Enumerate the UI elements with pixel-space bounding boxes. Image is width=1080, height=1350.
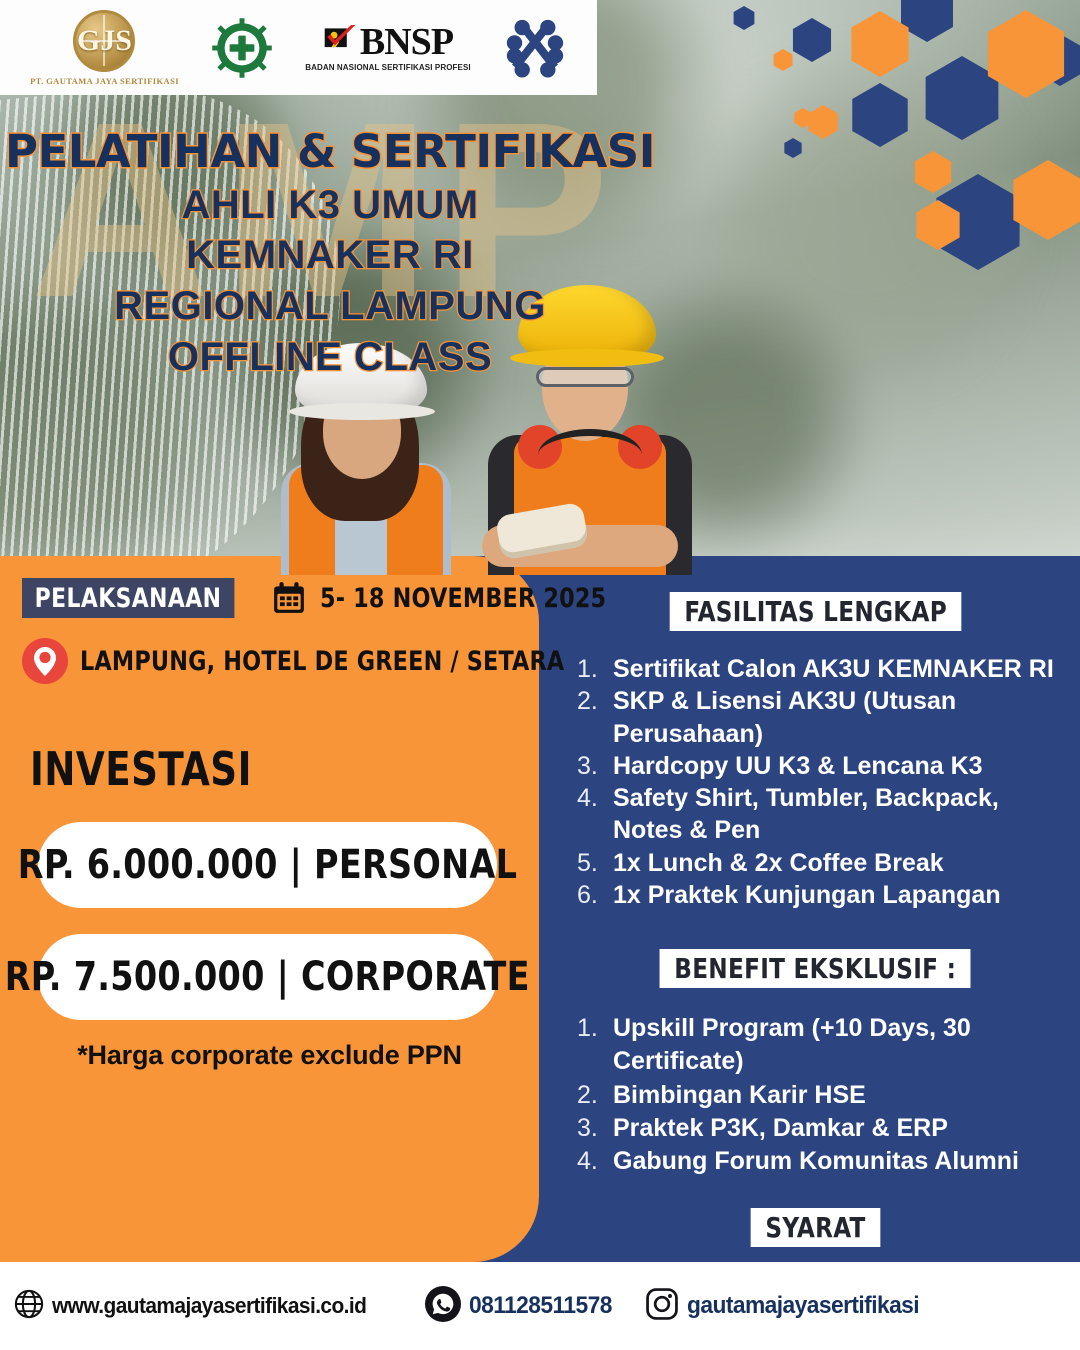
list-item-label: Upskill Program (+10 Days, 30 Certificat… [613,1012,1072,1079]
list-item-label: Praktek P3K, Damkar & ERP [613,1112,948,1145]
whatsapp-contact[interactable]: 081128511578 [425,1286,619,1327]
list-item: 5.1x Lunch & 2x Coffee Break [577,847,1072,879]
list-item: 6.1x Praktek Kunjungan Lapangan [577,879,1072,911]
pelaksanaan-badge: PELAKSANAAN [22,578,234,618]
gjs-monogram: GJS [76,13,132,69]
right-details-column: FASILITAS LENGKAP 1.Sertifikat Calon AK3… [545,556,1080,1262]
whatsapp-number: 081128511578 [469,1292,612,1320]
list-item-number: 1. [577,1012,607,1045]
syarat-heading: SYARAT [751,1208,881,1247]
bnsp-logo: BNSP BADAN NASIONAL SERTIFIKASI PROFESI [305,23,471,72]
list-item-label: 1x Praktek Kunjungan Lapangan [613,879,1001,911]
bnsp-mark-icon [323,25,357,59]
benefits-list: 1.Upskill Program (+10 Days, 30 Certific… [577,1012,1072,1178]
list-item: 4.Safety Shirt, Tumbler, Backpack, Notes… [577,782,1072,847]
whatsapp-icon [425,1286,461,1327]
list-item-number: 4. [577,1145,607,1178]
website-text: www.gautamajayasertifikasi.co.id [52,1293,366,1319]
benefit-heading: BENEFIT EKSKLUSIF : [660,949,971,988]
page-title: PELATIHAN & SERTIFIKASI [0,128,660,176]
list-item-number: 2. [577,1079,607,1112]
list-item: 3.Praktek P3K, Damkar & ERP [577,1112,1072,1145]
calendar-icon [272,581,306,615]
bnsp-logo-caption: BADAN NASIONAL SERTIFIKASI PROFESI [305,63,471,72]
price-personal-text: RP. 6.000.000 | PERSONAL [18,842,517,888]
network-logo [503,16,567,80]
hero-subtitle-line-1: AHLI K3 UMUM [0,184,660,227]
hexagon-pattern-decoration [730,0,1080,350]
list-item: 3.Hardcopy UU K3 & Lencana K3 [577,750,1072,782]
list-item: 2.SKP & Lisensi AK3U (Utusan Perusahaan) [577,685,1072,750]
list-item-number: 2. [577,685,607,717]
list-item-number: 6. [577,879,607,911]
instagram-handle: gautamajayasertifikasi [687,1292,919,1320]
globe-icon [14,1289,44,1324]
list-item: 1.Upskill Program (+10 Days, 30 Certific… [577,1012,1072,1079]
hero-section: AMP [0,0,1080,575]
list-item-number: 3. [577,750,607,782]
list-item-number: 5. [577,847,607,879]
website-contact[interactable]: www.gautamajayasertifikasi.co.id [14,1289,383,1324]
price-note: *Harga corporate exclude PPN [22,1040,517,1071]
instagram-icon [645,1287,679,1326]
map-pin-icon [22,638,68,684]
logo-bar: GJS PT. GAUTAMA JAYA SERTIFIKASI [0,0,597,95]
list-item-number: 1. [577,653,607,685]
list-item-number: 4. [577,782,607,814]
facilities-heading: FASILITAS LENGKAP [669,592,961,631]
facilities-list: 1.Sertifikat Calon AK3U KEMNAKER RI 2.SK… [577,653,1072,911]
list-item: 2.Bimbingan Karir HSE [577,1079,1072,1112]
list-item-label: Sertifikat Calon AK3U KEMNAKER RI [613,653,1054,685]
list-item-label: SKP & Lisensi AK3U (Utusan Perusahaan) [613,685,1072,750]
price-card-corporate: RP. 7.500.000 | CORPORATE [38,934,497,1020]
schedule-row: PELAKSANAAN 5- 18 NOVEMBER 2025 [22,578,517,618]
hero-title-block: PELATIHAN & SERTIFIKASI AHLI K3 UMUM KEM… [0,128,660,379]
facilities-heading-wrap: FASILITAS LENGKAP [559,592,1072,631]
price-card-personal: RP. 6.000.000 | PERSONAL [38,822,497,908]
left-details-column: PELAKSANAAN 5- 18 NOVEMBER 2025 [0,556,539,1262]
instagram-contact[interactable]: gautamajayasertifikasi [645,1287,931,1326]
ear-muffs [518,425,662,469]
list-item-label: Hardcopy UU K3 & Lencana K3 [613,750,983,782]
location-text: LAMPUNG, HOTEL DE GREEN / SETARA [80,646,564,677]
k3-safety-logo [211,17,273,79]
list-item-label: 1x Lunch & 2x Coffee Break [613,847,944,879]
footer-contact-bar: www.gautamajayasertifikasi.co.id 0811285… [0,1262,1080,1350]
list-item-number: 3. [577,1112,607,1145]
hero-subtitle-line-3: REGIONAL LAMPUNG [0,285,660,328]
list-item-label: Safety Shirt, Tumbler, Backpack, Notes &… [613,782,1072,847]
price-corporate-text: RP. 7.500.000 | CORPORATE [5,954,530,1000]
list-item: 1.Sertifikat Calon AK3U KEMNAKER RI [577,653,1072,685]
list-item-label: Bimbingan Karir HSE [613,1079,866,1112]
investasi-label: INVESTASI [30,742,468,796]
list-item-label: Gabung Forum Komunitas Alumni [613,1145,1019,1178]
location-row: LAMPUNG, HOTEL DE GREEN / SETARA [22,638,517,684]
hero-subtitle-line-4: OFFLINE CLASS [0,336,660,379]
bnsp-wordmark: BNSP [360,23,453,61]
list-item: 4.Gabung Forum Komunitas Alumni [577,1145,1072,1178]
gjs-logo-caption: PT. GAUTAMA JAYA SERTIFIKASI [30,76,179,86]
poster-root: AMP [0,0,1080,1350]
benefit-heading-wrap: BENEFIT EKSKLUSIF : [559,949,1072,988]
pt-gautama-jaya-sertifikasi-logo: GJS PT. GAUTAMA JAYA SERTIFIKASI [30,10,179,86]
syarat-heading-wrap: SYARAT [559,1208,1072,1247]
hero-subtitle-line-2: KEMNAKER RI [0,234,660,277]
